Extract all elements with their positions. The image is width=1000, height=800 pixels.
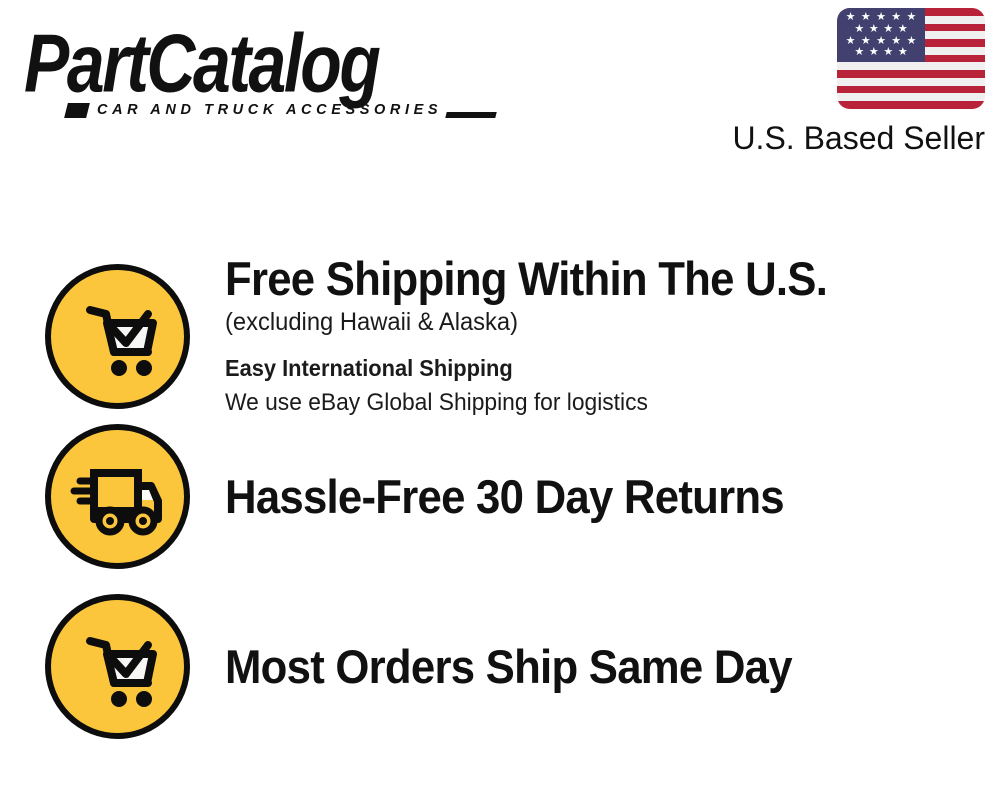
us-based-seller-badge: ★★★★★ ★★★★ ★★★★★ ★★★★ U.S. Based Seller: [715, 8, 985, 156]
benefit-sub-note: (excluding Hawaii & Alaska): [225, 305, 961, 339]
flag-canton: ★★★★★ ★★★★ ★★★★★ ★★★★: [837, 8, 925, 62]
shopping-cart-check-icon: [45, 594, 190, 739]
us-based-seller-label: U.S. Based Seller: [715, 120, 985, 156]
benefit-headline: Most Orders Ship Same Day: [225, 640, 946, 693]
shopping-cart-check-icon: [45, 264, 190, 409]
logo-slash-left-icon: [64, 103, 90, 118]
benefit-text-block: Hassle-Free 30 Day Returns: [225, 470, 1000, 523]
benefit-row-returns: Hassle-Free 30 Day Returns: [0, 424, 1000, 569]
page-header: PartCatalog CAR AND TRUCK ACCESSORIES ★★…: [0, 0, 1000, 175]
benefit-text-block: Most Orders Ship Same Day: [225, 640, 1000, 693]
benefit-row-free-shipping: Free Shipping Within The U.S. (excluding…: [0, 252, 1000, 420]
benefit-headline: Hassle-Free 30 Day Returns: [225, 470, 946, 523]
benefit-text-block: Free Shipping Within The U.S. (excluding…: [225, 252, 1000, 420]
brand-tagline: CAR AND TRUCK ACCESSORIES: [97, 102, 442, 118]
brand-logo[interactable]: PartCatalog CAR AND TRUCK ACCESSORIES: [24, 22, 494, 114]
benefit-row-same-day-ship: Most Orders Ship Same Day: [0, 594, 1000, 739]
benefit-sub-bold: Easy International Shipping: [225, 351, 961, 385]
benefit-sub-light: We use eBay Global Shipping for logistic…: [225, 386, 961, 420]
logo-slash-right-icon: [445, 112, 496, 118]
delivery-truck-icon: [45, 424, 190, 569]
us-flag-icon: ★★★★★ ★★★★ ★★★★★ ★★★★: [837, 8, 985, 109]
benefit-headline: Free Shipping Within The U.S.: [225, 252, 946, 305]
brand-tagline-row: CAR AND TRUCK ACCESSORIES: [66, 102, 496, 118]
brand-wordmark: PartCatalog: [24, 22, 480, 105]
